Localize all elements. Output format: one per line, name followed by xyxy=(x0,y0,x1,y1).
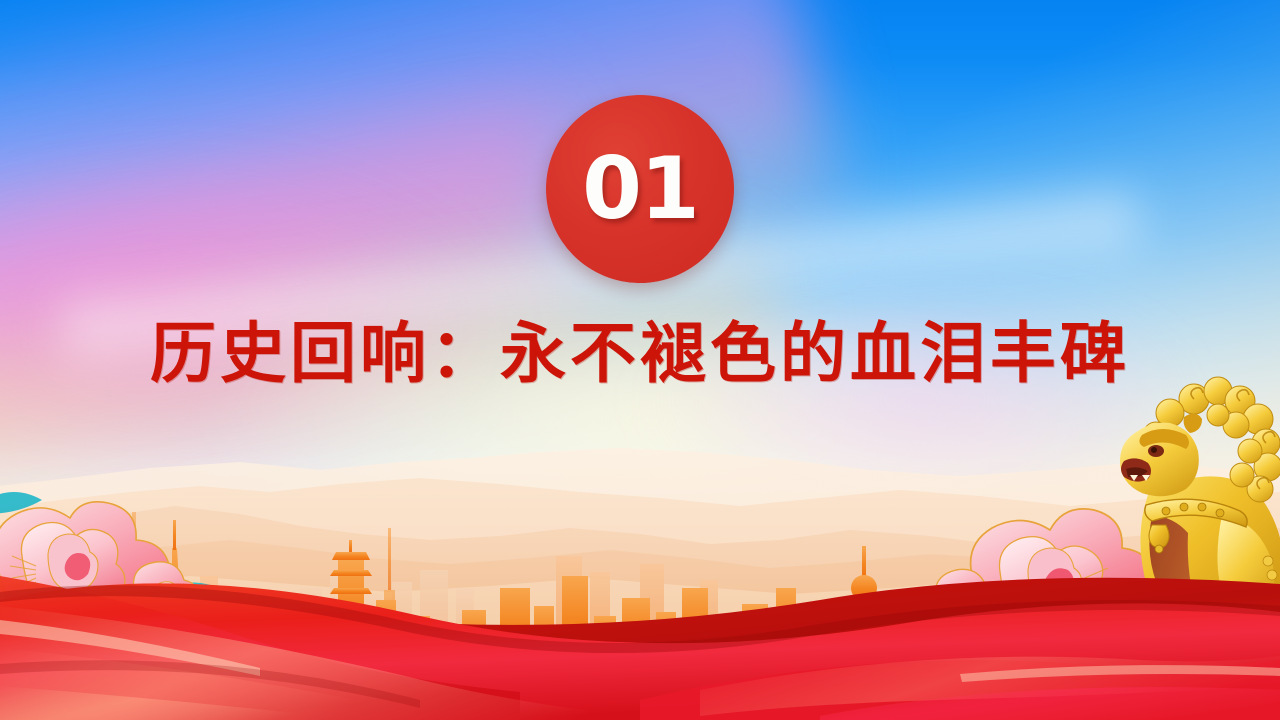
section-number-text: 01 xyxy=(582,146,698,232)
section-number-badge[interactable]: 01 xyxy=(546,95,734,283)
slide-canvas: 01 历史回响：永不褪色的血泪丰碑 xyxy=(0,0,1280,720)
slide-title: 历史回响：永不褪色的血泪丰碑 xyxy=(0,316,1280,394)
